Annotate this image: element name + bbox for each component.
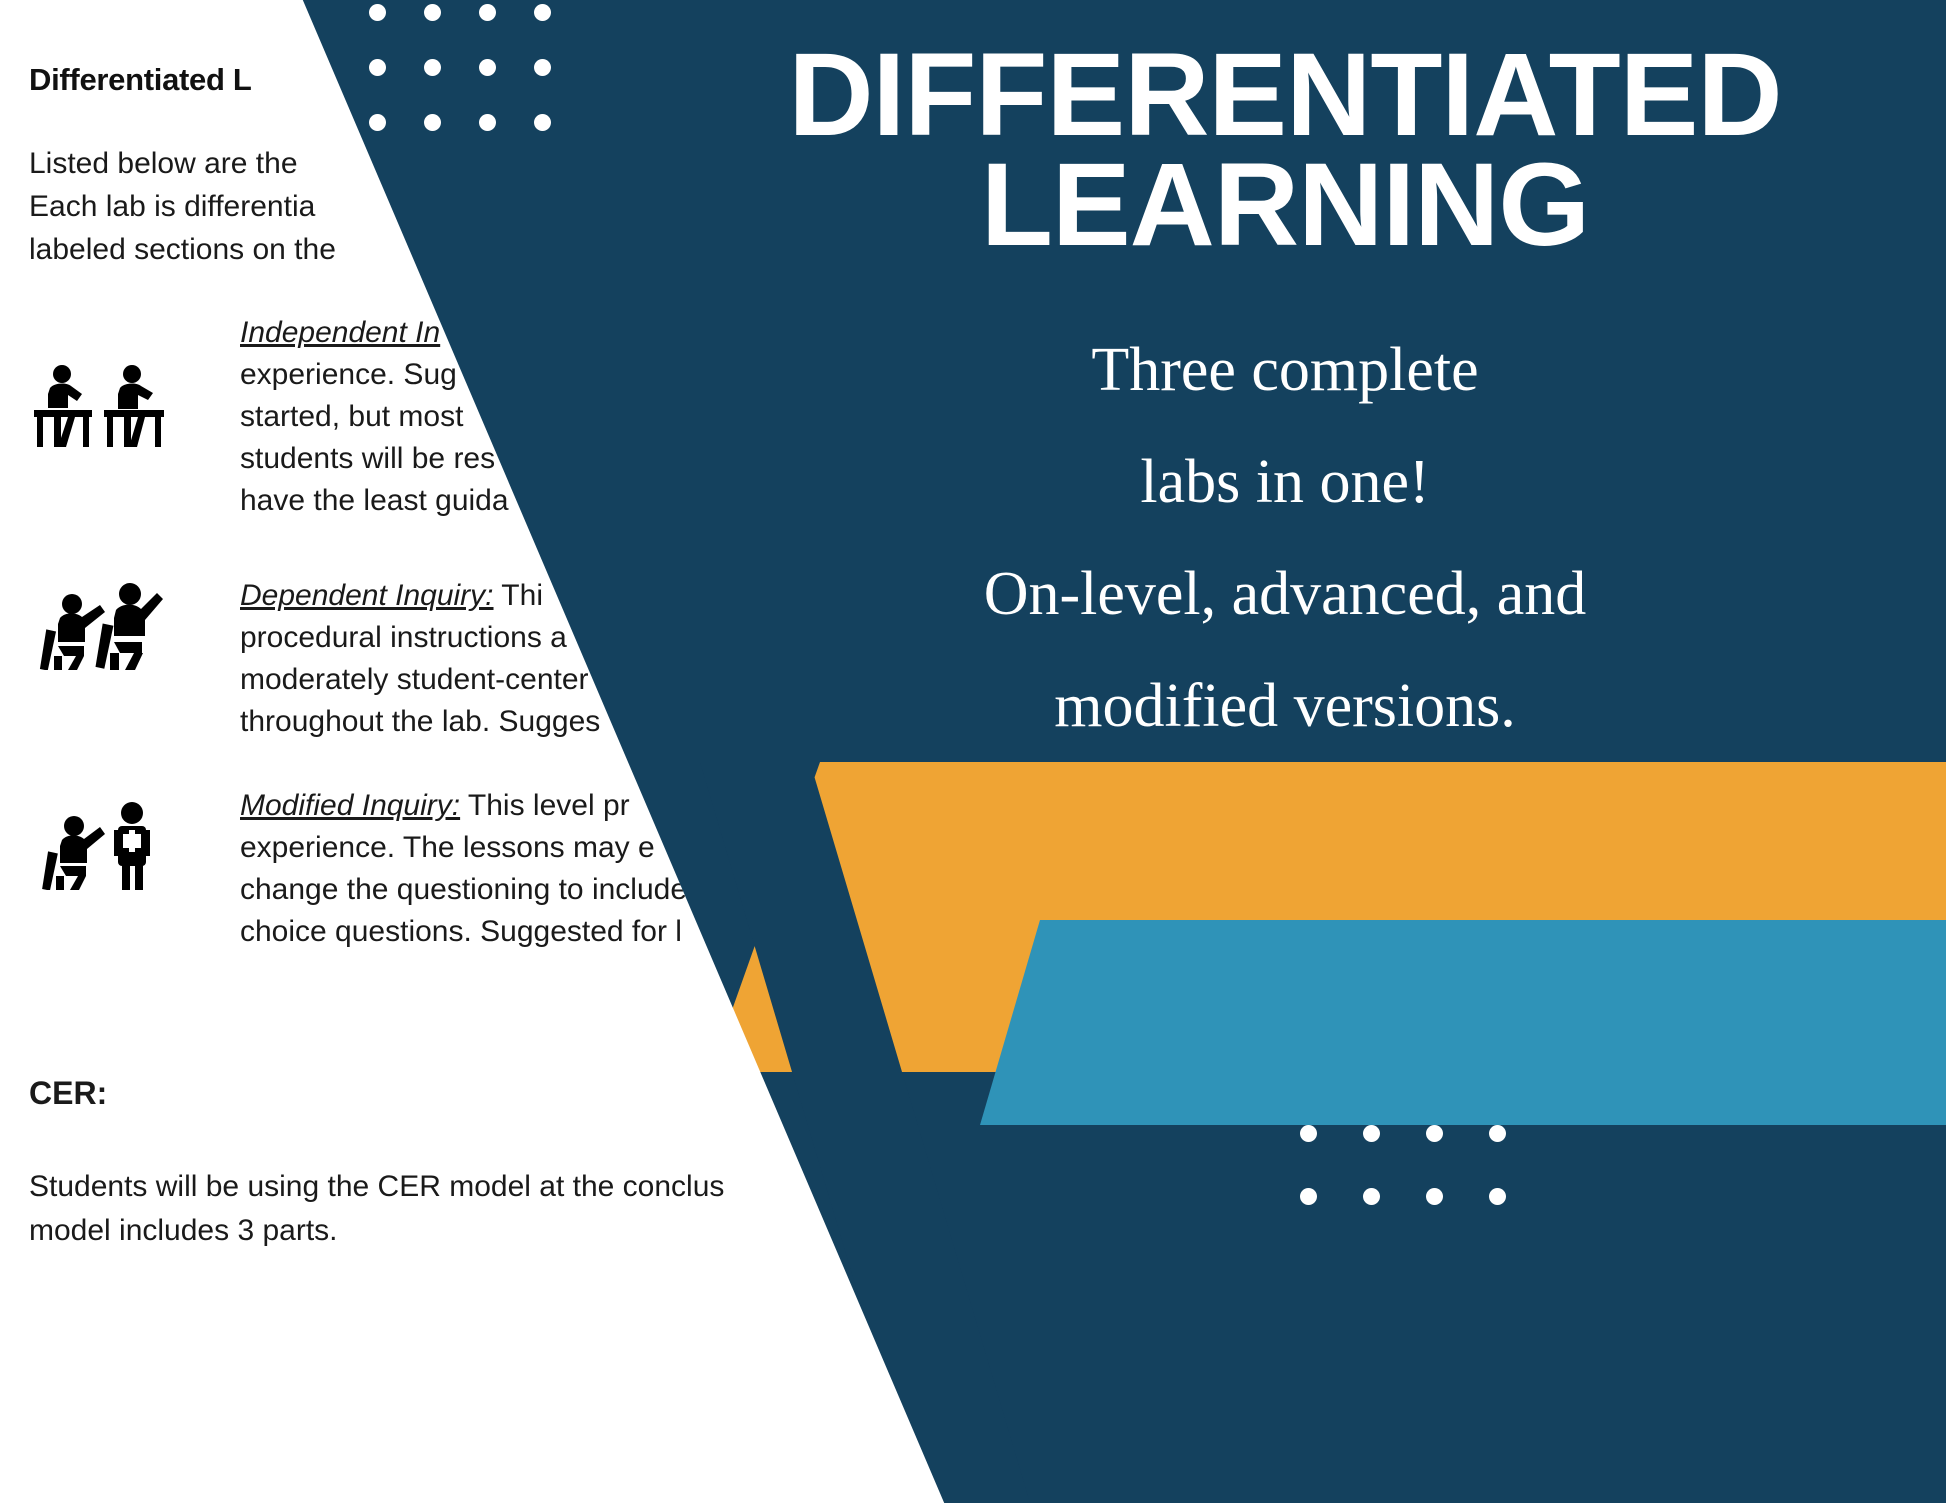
dot: [1300, 1125, 1317, 1142]
dot: [534, 4, 551, 21]
document-title: Differentiated L: [29, 62, 252, 98]
dependent-lead: Dependent Inquiry:: [240, 579, 494, 612]
title-panel: DIFFERENTIATED LEARNING Three complete l…: [655, 40, 1915, 762]
dot-grid-bottom-right: [1300, 1125, 1552, 1251]
subtitle-line-1: Three complete: [655, 314, 1915, 426]
headline-line-1: DIFFERENTIATED: [655, 40, 1915, 150]
subtitle-line-3: On-level, advanced, and: [655, 538, 1915, 650]
cer-heading: CER:: [29, 1075, 107, 1112]
teacher-with-seated-student-icon: [30, 800, 170, 890]
dot: [479, 114, 496, 131]
dot: [424, 59, 441, 76]
dot: [369, 114, 386, 131]
headline-line-2: LEARNING: [655, 150, 1915, 260]
modified-lead-tail: This level pr: [460, 789, 630, 822]
teal-accent-band: [980, 920, 1946, 1125]
modified-lead: Modified Inquiry:: [240, 789, 460, 822]
dot: [369, 59, 386, 76]
dot: [1426, 1125, 1443, 1142]
dot: [479, 59, 496, 76]
dot: [479, 4, 496, 21]
dot: [1363, 1125, 1380, 1142]
dot: [424, 4, 441, 21]
subtitle-line-4: modified versions.: [655, 650, 1915, 762]
dot: [1363, 1188, 1380, 1205]
students-at-desks-icon: [30, 360, 170, 450]
students-raising-hands-icon: [30, 580, 170, 670]
dot-grid-top-left: [369, 4, 589, 169]
headline: DIFFERENTIATED LEARNING: [655, 40, 1915, 260]
independent-lead: Independent In: [240, 316, 440, 349]
subtitle-line-2: labs in one!: [655, 426, 1915, 538]
dot: [1300, 1188, 1317, 1205]
dot: [424, 114, 441, 131]
dot: [1426, 1188, 1443, 1205]
subtitle: Three complete labs in one! On-level, ad…: [655, 314, 1915, 762]
poster-canvas: Differentiated L Listed below are the Ea…: [0, 0, 1946, 1503]
dot: [369, 4, 386, 21]
dot: [534, 114, 551, 131]
dot: [534, 59, 551, 76]
dot: [1489, 1125, 1506, 1142]
dot: [1489, 1188, 1506, 1205]
dependent-lead-tail: Thi: [494, 579, 543, 612]
